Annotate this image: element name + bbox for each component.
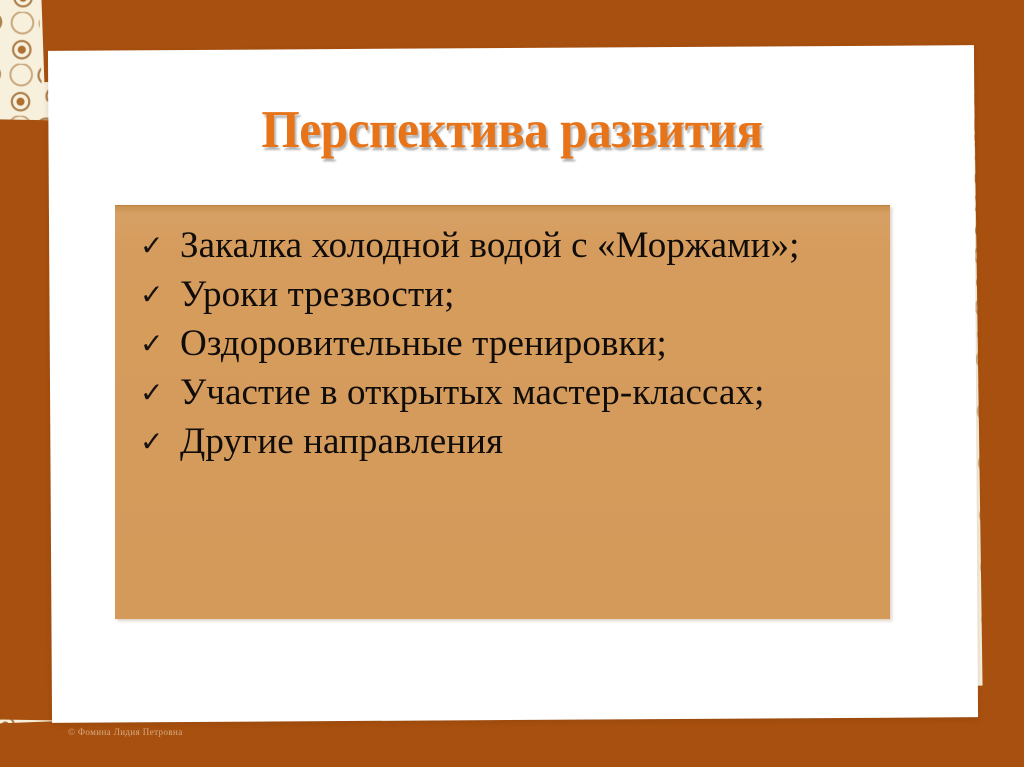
page-title: Перспектива развития <box>36 101 988 159</box>
check-icon: ✓ <box>137 369 180 417</box>
check-icon: ✓ <box>137 320 180 368</box>
list-item-label: Другие направления <box>180 418 872 466</box>
list-item: ✓ Уроки трезвости; <box>137 271 872 319</box>
check-icon: ✓ <box>137 418 180 466</box>
bullet-list: ✓ Закалка холодной водой с «Моржами»; ✓ … <box>115 206 890 466</box>
list-item: ✓ Оздоровительные тренировки; <box>137 320 872 368</box>
slide-content: Перспектива развития ✓ Закалка холодной … <box>0 0 1024 767</box>
list-item-label: Оздоровительные тренировки; <box>180 320 872 368</box>
list-item-label: Участие в открытых мастер-классах; <box>180 369 872 417</box>
check-icon: ✓ <box>137 271 180 319</box>
content-box: ✓ Закалка холодной водой с «Моржами»; ✓ … <box>115 205 890 619</box>
presentation-slide: Перспектива развития ✓ Закалка холодной … <box>0 0 1024 767</box>
copyright-notice: © Фомина Лидия Петровна <box>68 727 183 737</box>
list-item: ✓ Закалка холодной водой с «Моржами»; <box>137 222 872 270</box>
list-item: ✓ Участие в открытых мастер-классах; <box>137 369 872 417</box>
list-item-label: Закалка холодной водой с «Моржами»; <box>180 222 872 270</box>
list-item: ✓ Другие направления <box>137 418 872 466</box>
list-item-label: Уроки трезвости; <box>180 271 872 319</box>
check-icon: ✓ <box>137 222 180 270</box>
